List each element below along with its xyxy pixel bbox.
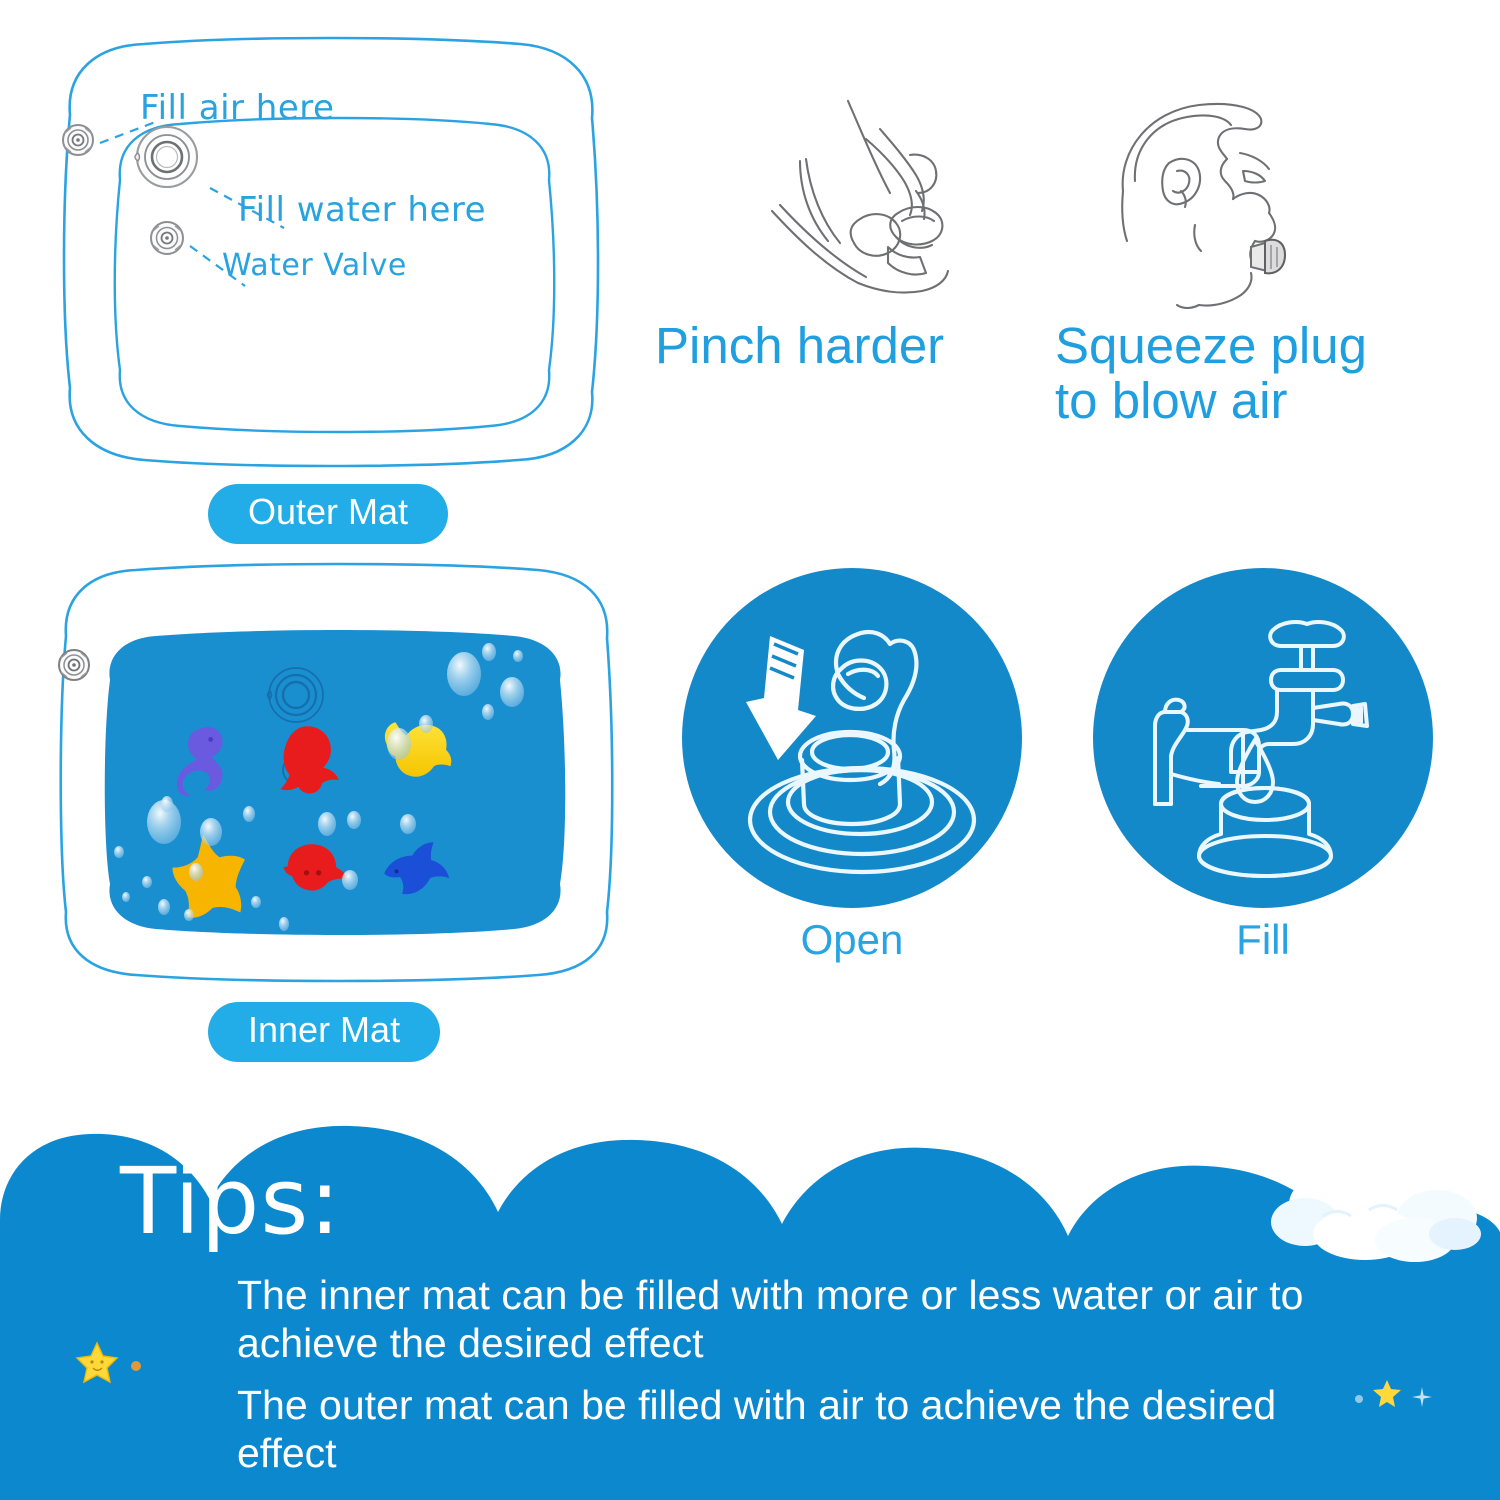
head-blowing-plug-sketch: [1095, 95, 1345, 310]
step-open: Open: [682, 568, 1022, 908]
mouth-plug-icon: [1251, 240, 1285, 274]
star-yellow-icon: [1372, 1378, 1402, 1408]
tips-title: Tips:: [120, 1148, 341, 1255]
sparkle-dot-icon: [128, 1358, 144, 1374]
air-valve-icon: [59, 650, 89, 680]
sketch-caption-squeeze-plug: Squeeze plug to blow air: [1055, 318, 1367, 428]
sparkle-icon: [1410, 1385, 1434, 1409]
callout-label-fill-water: Fill water here: [238, 190, 486, 230]
tips-item-inner-mat: The inner mat can be filled with more or…: [237, 1272, 1357, 1368]
valve-open-icon: [712, 588, 1002, 888]
cloud-icon: [1265, 1160, 1490, 1270]
water-valve-icon: [151, 222, 183, 254]
faucet-fill-icon: [1125, 608, 1405, 878]
step-fill-caption: Fill: [1093, 916, 1433, 964]
hand-pinching-valve-sketch: [770, 95, 990, 305]
tips-item-outer-mat: The outer mat can be filled with air to …: [237, 1382, 1357, 1478]
air-valve-icon: [63, 125, 93, 155]
sketch-caption-pinch-harder: Pinch harder: [655, 318, 944, 373]
inner-mat-diagram: [44, 552, 630, 992]
step-fill: Fill: [1093, 568, 1433, 908]
water-fill-valve-icon: [135, 127, 197, 187]
badge-inner-mat: Inner Mat: [208, 1002, 440, 1062]
callout-label-fill-air: Fill air here: [140, 88, 334, 128]
step-open-caption: Open: [682, 916, 1022, 964]
badge-outer-mat: Outer Mat: [208, 484, 448, 544]
down-arrow-icon: [746, 636, 816, 760]
star-yellow-icon: [75, 1340, 119, 1384]
instruction-sheet: Fill air here Fill water here Water Valv…: [0, 0, 1500, 1500]
callout-label-water-valve: Water Valve: [222, 248, 407, 283]
